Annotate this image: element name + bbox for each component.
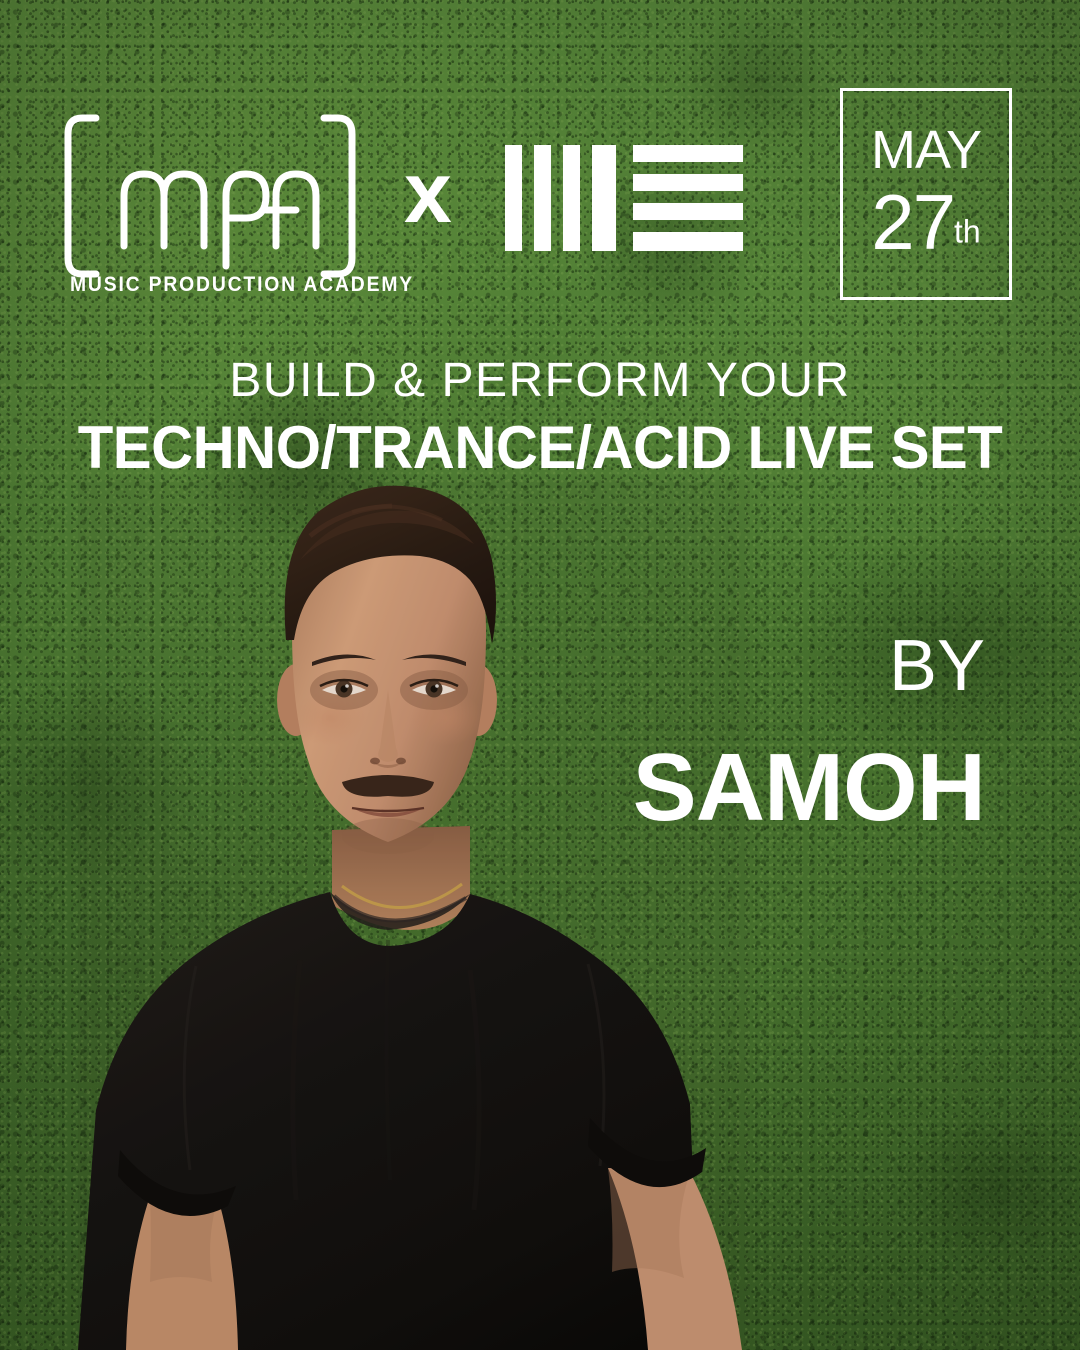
ableton-live-logo-icon bbox=[505, 145, 743, 251]
mpa-logo: MUSIC PRODUCTION ACADEMY bbox=[60, 110, 380, 310]
artist-by-label: BY bbox=[633, 630, 985, 702]
mpa-tagline: MUSIC PRODUCTION ACADEMY bbox=[70, 273, 414, 297]
date-badge: MAY 27th bbox=[840, 88, 1012, 300]
poster-header: MUSIC PRODUCTION ACADEMY x MAY bbox=[0, 0, 1080, 320]
headline-line-2: TECHNO/TRANCE/ACID LIVE SET bbox=[16, 415, 1064, 481]
mpa-bracket-logo-icon bbox=[60, 110, 360, 282]
artist-credit-block: BY SAMOH bbox=[633, 630, 985, 836]
headline-block: BUILD & PERFORM YOUR TECHNO/TRANCE/ACID … bbox=[0, 355, 1080, 481]
event-poster: MUSIC PRODUCTION ACADEMY x MAY bbox=[0, 0, 1080, 1350]
date-day-suffix: th bbox=[954, 214, 981, 250]
collab-x-symbol: x bbox=[404, 150, 452, 236]
date-month: MAY bbox=[843, 123, 1009, 177]
date-day-wrapper: 27th bbox=[843, 183, 1009, 261]
artist-name: SAMOH bbox=[633, 740, 985, 836]
headline-line-1: BUILD & PERFORM YOUR bbox=[0, 355, 1080, 407]
date-day: 27 bbox=[871, 178, 954, 266]
